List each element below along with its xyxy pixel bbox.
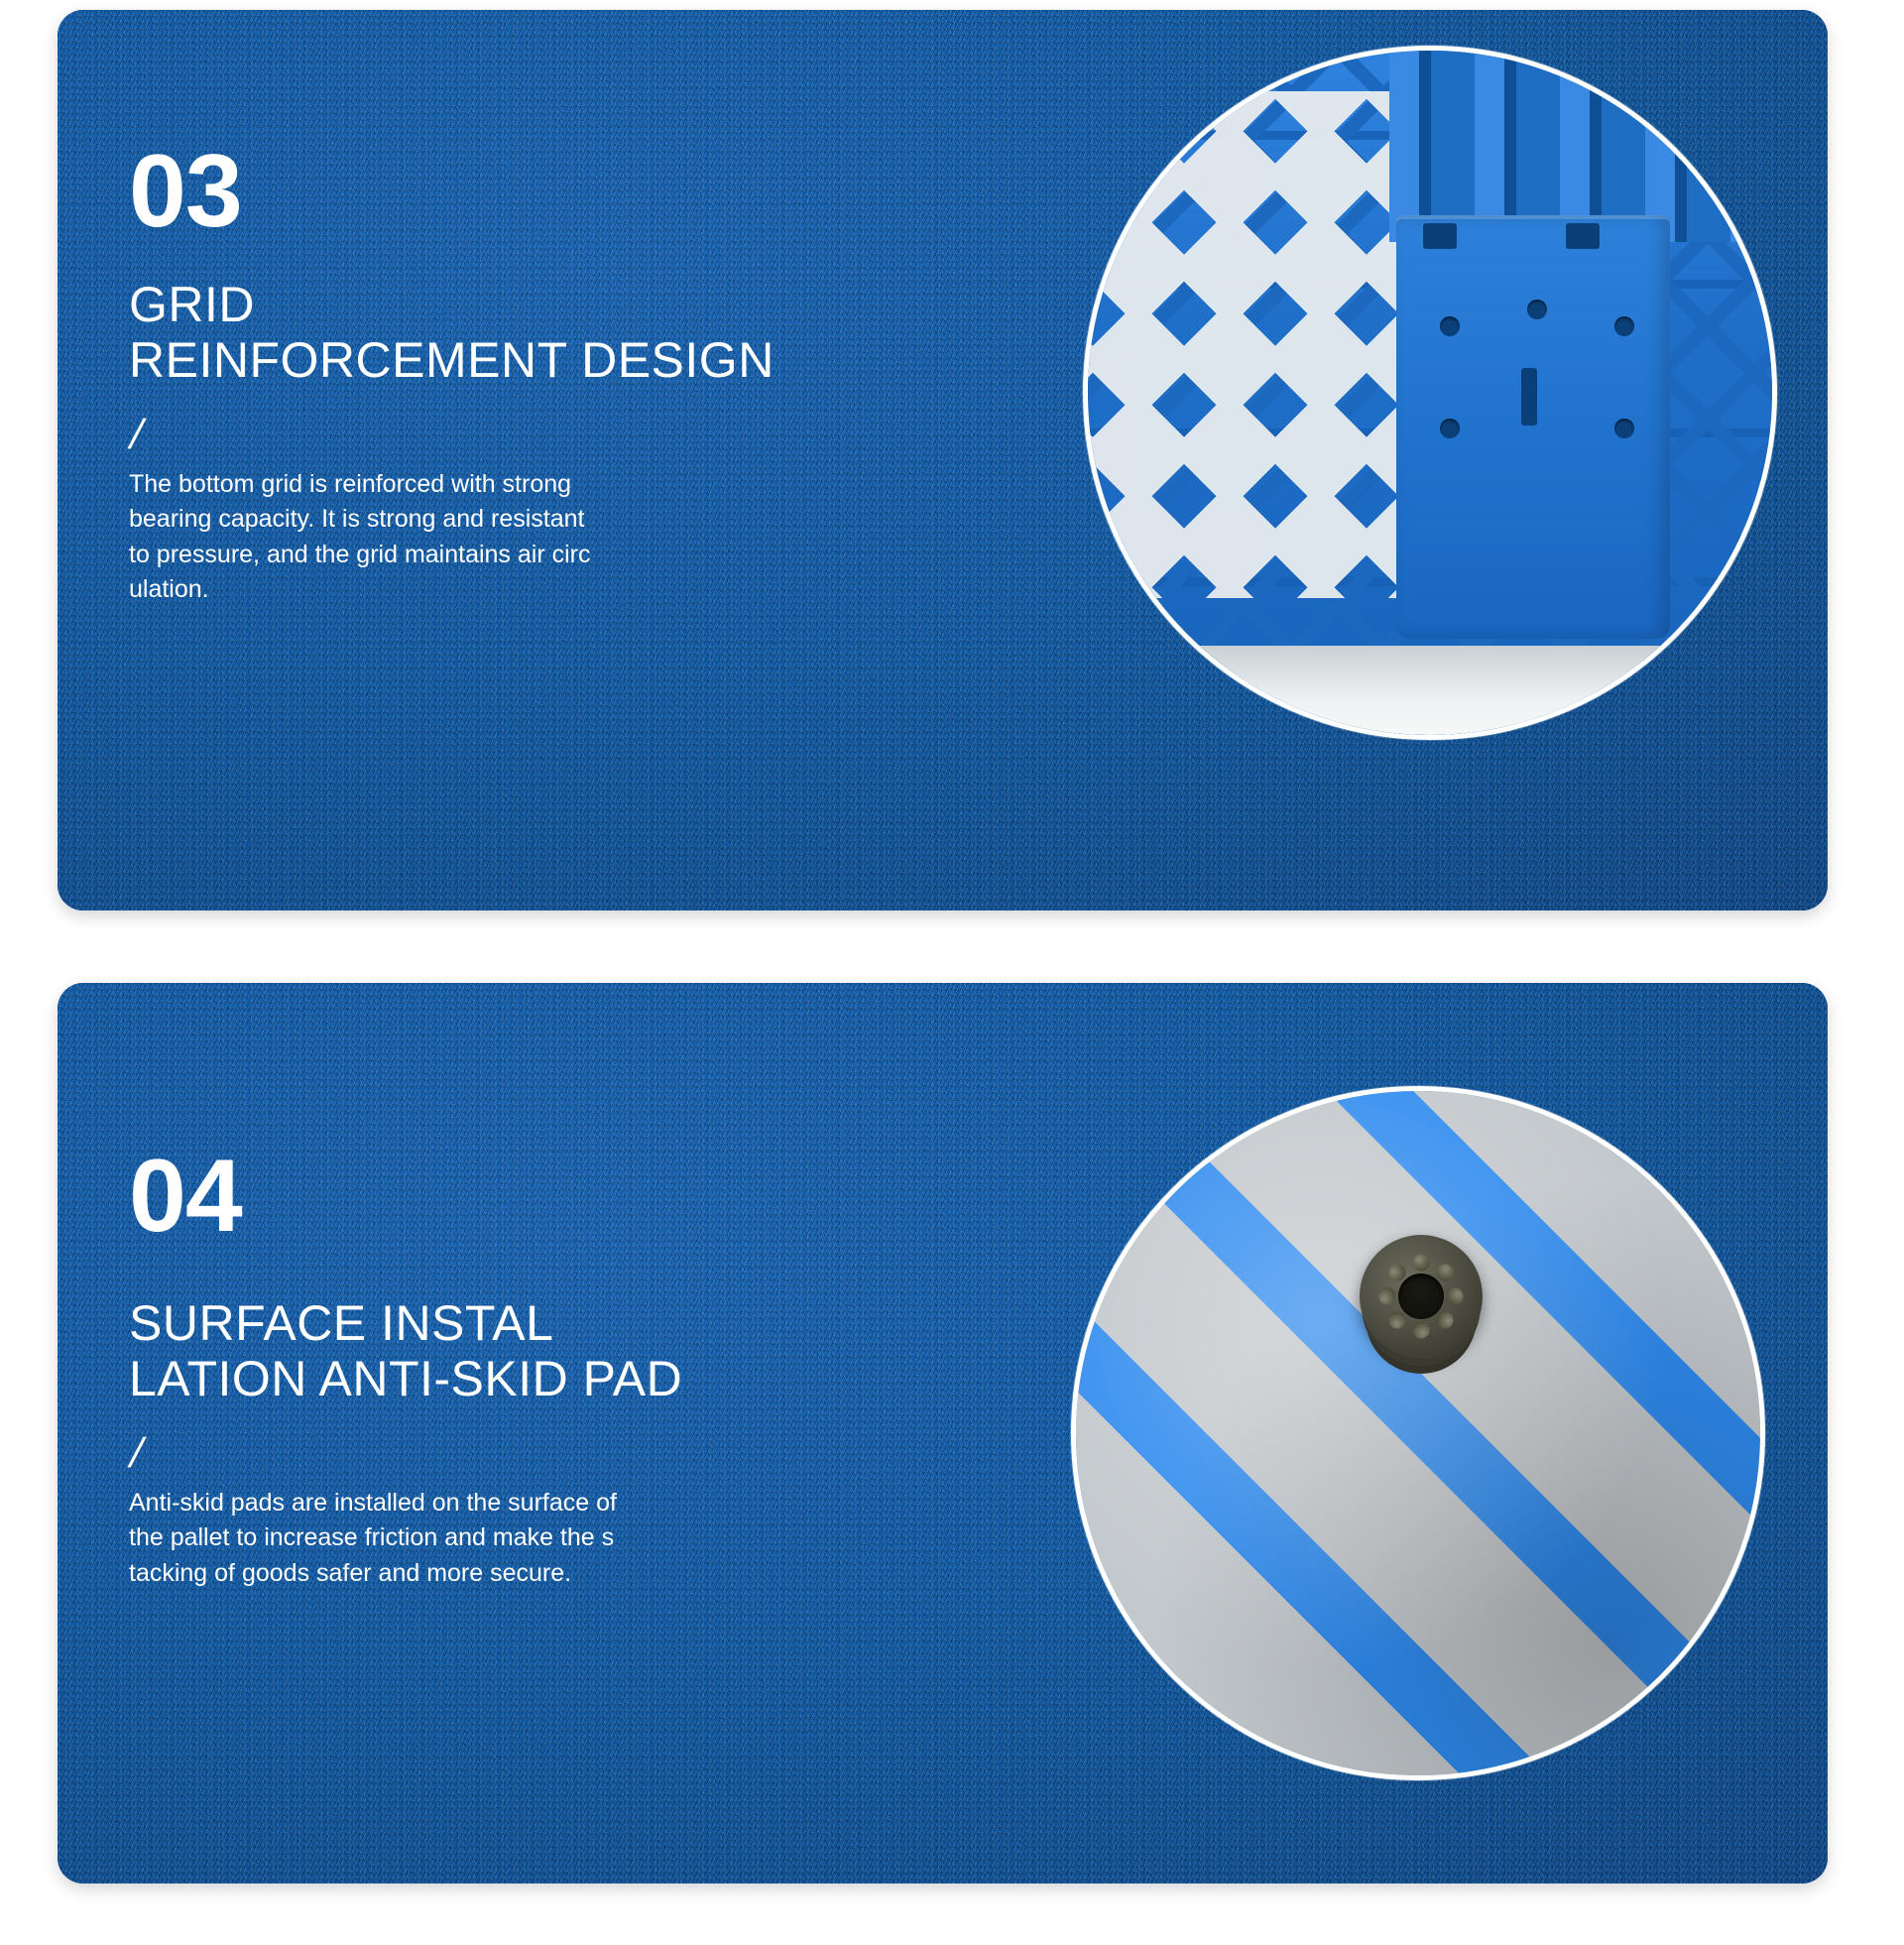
pad-center-hole <box>1398 1274 1444 1319</box>
panel-03-description: The bottom grid is reinforced with stron… <box>129 467 883 608</box>
pad-bump <box>1447 1288 1464 1305</box>
panel-04-title: SURFACE INSTAL LATION ANTI-SKID PAD <box>129 1295 962 1406</box>
panel-03-copy: 03 GRID REINFORCEMENT DESIGN / The botto… <box>129 143 962 608</box>
foot-slot <box>1521 368 1537 425</box>
foot-slot <box>1566 223 1600 249</box>
foot-hole <box>1614 316 1634 336</box>
panel-03-title: GRID REINFORCEMENT DESIGN <box>129 277 962 388</box>
panel-03-number: 03 <box>129 143 962 241</box>
pad-bump <box>1413 1255 1430 1272</box>
foot-slot <box>1423 223 1457 249</box>
anti-skid-pad <box>1360 1235 1483 1358</box>
panel-04-copy: 04 SURFACE INSTAL LATION ANTI-SKID PAD /… <box>129 1148 962 1591</box>
pallet-foot-block <box>1396 215 1670 640</box>
anti-skid-pad-image <box>1076 1091 1760 1775</box>
feature-panels-page: 03 GRID REINFORCEMENT DESIGN / The botto… <box>0 0 1904 1945</box>
foot-hole <box>1527 300 1547 319</box>
pad-bump <box>1413 1322 1430 1339</box>
foot-hole <box>1614 419 1634 438</box>
feature-panel-04: 04 SURFACE INSTAL LATION ANTI-SKID PAD /… <box>58 983 1828 1884</box>
panel-03-circular-photo <box>1083 46 1777 740</box>
pallet-grid-image <box>1088 51 1772 735</box>
panel-03-divider: / <box>126 414 148 455</box>
foot-hole <box>1440 316 1460 336</box>
grid-top-bars <box>1389 51 1772 242</box>
photo-lighting <box>1076 1091 1760 1775</box>
panel-04-circular-photo <box>1071 1086 1765 1780</box>
pad-bump <box>1379 1288 1396 1305</box>
feature-panel-03: 03 GRID REINFORCEMENT DESIGN / The botto… <box>58 10 1828 911</box>
panel-04-description: Anti-skid pads are installed on the surf… <box>129 1486 883 1592</box>
floor-surface <box>1088 646 1772 735</box>
foot-hole <box>1440 419 1460 438</box>
panel-04-divider: / <box>126 1432 148 1474</box>
panel-04-number: 04 <box>129 1148 962 1246</box>
